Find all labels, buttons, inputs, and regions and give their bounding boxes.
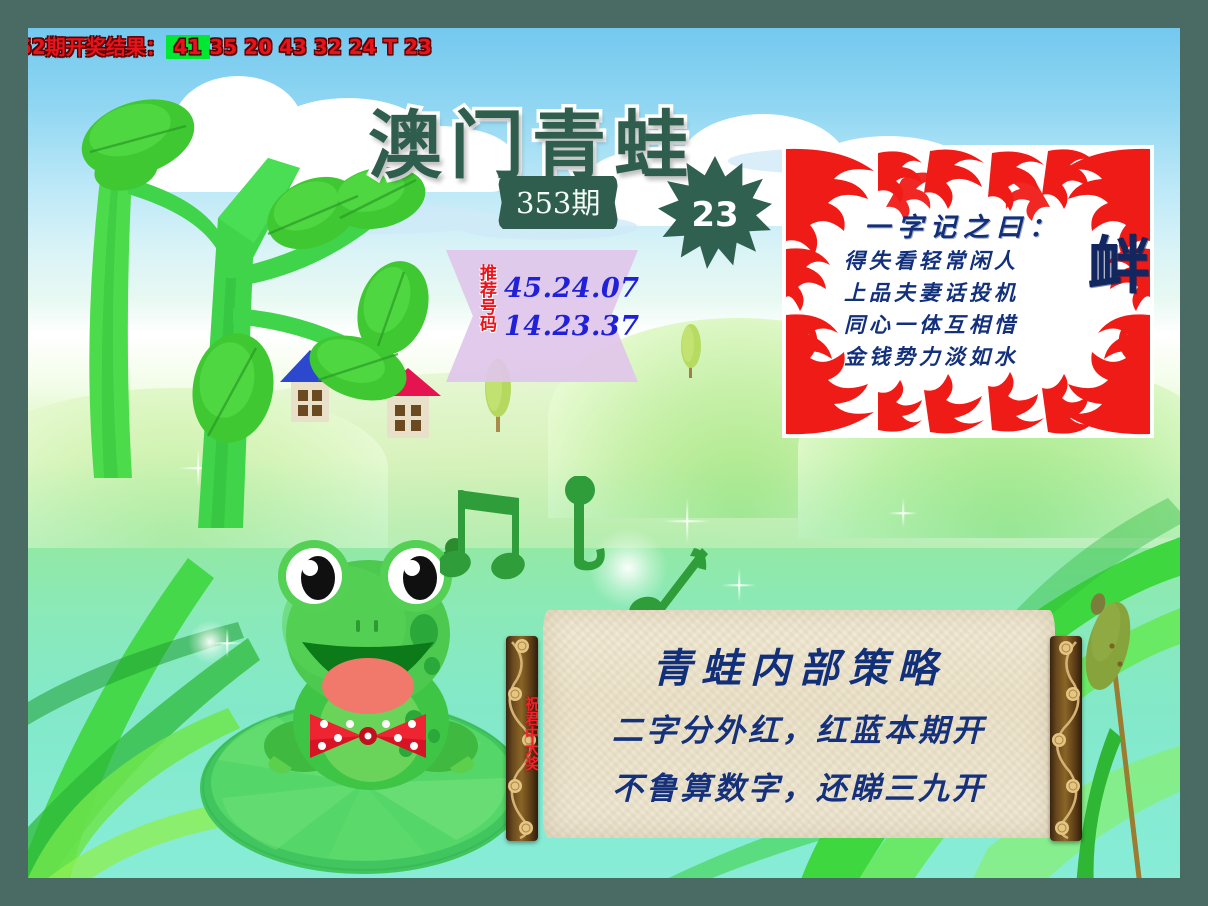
poem-line-4: 金钱势力淡如水	[844, 341, 1019, 373]
sparkle-icon	[888, 498, 918, 528]
music-notes-icon	[440, 480, 550, 590]
result-prefix: 352期开奖结果：	[28, 35, 166, 59]
result-highlight-number: 41	[166, 35, 210, 59]
scroll-line-2: 不鲁算数字，还睇三九开	[543, 763, 1055, 808]
scroll-rod-pattern	[1050, 636, 1082, 841]
poem-lines: 得失看轻常闲人 上品夫妻话投机 同心一体互相惜 金钱势力淡如水	[844, 245, 1019, 373]
poem-heading: 一字记之曰：	[864, 207, 1062, 244]
recommend-line-2: 14.23.37	[504, 308, 640, 346]
scroll-rod-left: 祝君中大奖	[506, 636, 538, 841]
period-banner: 353期	[498, 176, 618, 229]
star-number-badge: 23	[658, 156, 772, 270]
result-separator: T	[384, 35, 405, 59]
dragon-poem-panel: 一字记之曰： 得失看轻常闲人 上品夫妻话投机 同心一体互相惜 金钱势力淡如水 衅	[782, 145, 1154, 438]
scroll-wish-text: 祝君中大奖	[518, 696, 538, 771]
big-character: 衅	[1088, 235, 1150, 297]
scroll-paper: 青蛙内部策略 二字分外红，红蓝本期开 不鲁算数字，还睇三九开	[543, 610, 1055, 838]
draw-result-bar: 352期开奖结果： 41 35 20 43 32 24 T 23	[28, 28, 1180, 62]
strategy-scroll: 青蛙内部策略 二字分外红，红蓝本期开 不鲁算数字，还睇三九开	[498, 598, 1098, 848]
result-special-number: 23	[404, 35, 432, 59]
sparkle-icon	[722, 568, 756, 602]
music-notes-icon	[562, 476, 632, 576]
poem-line-3: 同心一体互相惜	[844, 309, 1019, 341]
sparkle-icon	[212, 628, 242, 658]
poem-line-2: 上品夫妻话投机	[844, 277, 1019, 309]
poster-root: 澳门青蛙 353期 23 推荐号码 45.24.07 14.23.37	[0, 0, 1208, 906]
recommend-label: 推荐号码	[468, 264, 496, 332]
recommend-numbers: 45.24.07 14.23.37	[504, 270, 640, 347]
cypress-tree-icon	[676, 324, 706, 380]
star-number-value: 23	[658, 156, 772, 270]
scroll-rod-right	[1050, 636, 1082, 841]
result-numbers: 35 20 43 32 24	[210, 35, 384, 59]
recommend-line-1: 45.24.07	[504, 270, 640, 308]
recommended-numbers-panel: 推荐号码 45.24.07 14.23.37	[446, 250, 638, 382]
poem-line-1: 得失看轻常闲人	[844, 245, 1019, 277]
draw-result-text: 352期开奖结果： 41 35 20 43 32 24 T 23	[28, 31, 432, 60]
scroll-line-1: 二字分外红，红蓝本期开	[543, 705, 1055, 750]
scroll-title: 青蛙内部策略	[543, 636, 1055, 694]
poster-canvas: 澳门青蛙 353期 23 推荐号码 45.24.07 14.23.37	[28, 28, 1180, 878]
